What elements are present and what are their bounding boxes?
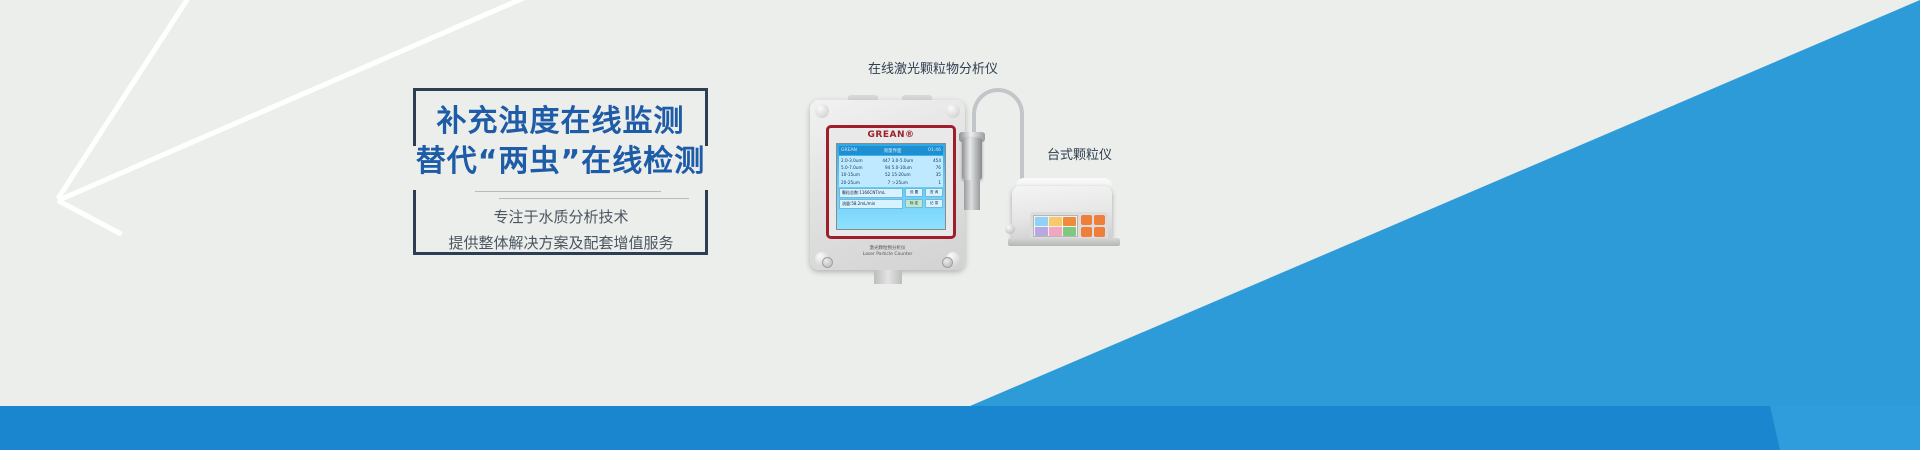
analyzer-corner-screw	[946, 104, 960, 118]
lcd-button-calibrate[interactable]: 标 定	[905, 199, 923, 208]
bin-value: 1	[923, 179, 941, 186]
analyzer-enclosure: GREAN® GREAN 测量界面 01:46 2.0-3.0um 447 3.…	[810, 100, 965, 270]
subtitle-block: 专注于水质分析技术 提供整体解决方案及配套增值服务	[405, 204, 717, 256]
lcd-status-row-total: 颗粒总数:1166CNT/mL 设 置 查 询	[839, 188, 943, 198]
table-row: 20-25um 7 ＞25um 1	[841, 179, 941, 186]
bench-tile	[1063, 217, 1076, 226]
bench-tile	[1035, 227, 1048, 236]
divider-line-2	[499, 198, 689, 199]
bin-label: 5.0-10um	[892, 164, 922, 171]
flow-rate-field: 流量:58.2mL/min	[839, 199, 903, 209]
headline-line-2: 替代“两虫”在线检测	[403, 142, 718, 182]
divider-line-1	[475, 191, 661, 192]
label-online-analyzer: 在线激光颗粒物分析仪	[868, 58, 998, 77]
bin-label: 10-15um	[841, 171, 871, 178]
bench-control-panel	[1030, 212, 1108, 240]
total-count-field: 颗粒总数:1166CNT/mL	[839, 188, 903, 198]
bin-value: 76	[923, 164, 941, 171]
benchtop-particle-counter	[1012, 178, 1124, 246]
bin-label: 15-20um	[892, 171, 922, 178]
lcd-status-area: 颗粒总数:1166CNT/mL 设 置 查 询 流量:58.2mL/min 标 …	[839, 188, 943, 209]
bench-key[interactable]	[1081, 227, 1092, 237]
bin-value: 35	[923, 171, 941, 178]
bench-display[interactable]	[1033, 215, 1078, 237]
lcd-title-left: GREAN	[841, 148, 857, 153]
bin-label: 20-25um	[841, 179, 871, 186]
flow-sensor-foot	[964, 180, 980, 210]
table-row: 10-15um 52 15-20um 35	[841, 171, 941, 178]
bench-key[interactable]	[1081, 215, 1092, 225]
analyzer-lcd-screen[interactable]: GREAN 测量界面 01:46 2.0-3.0um 447 3.0-5.0um…	[836, 143, 946, 230]
bench-key[interactable]	[1094, 227, 1105, 237]
bin-value: 52	[872, 171, 890, 178]
brand-logo: GREAN®	[829, 130, 953, 140]
bottom-blue-band	[0, 406, 1920, 450]
analyzer-bottom-screw	[942, 257, 953, 268]
analyzer-caption-en: Laser Particle Counter	[810, 252, 965, 258]
subtitle-line-1: 专注于水质分析技术	[405, 204, 717, 230]
bin-label: ＞25um	[892, 179, 922, 186]
bin-value: 447	[872, 157, 890, 164]
bench-inlet-port	[1005, 224, 1015, 234]
bin-label: 5.0-7.0um	[841, 164, 871, 171]
lcd-title-bar: GREAN 测量界面 01:46	[839, 146, 943, 155]
bin-label: 3.0-5.0um	[892, 157, 922, 164]
table-row: 5.0-7.0um 94 5.0-10um 76	[841, 164, 941, 171]
lcd-status-row-flow: 流量:58.2mL/min 标 定 记 录	[839, 199, 943, 209]
bench-keypad[interactable]	[1081, 215, 1105, 237]
online-laser-particle-analyzer: GREAN® GREAN 测量界面 01:46 2.0-3.0um 447 3.…	[810, 100, 965, 270]
analyzer-bottom-screw	[822, 257, 833, 268]
analyzer-caption: 激光颗粒物分析仪 Laser Particle Counter	[810, 246, 965, 258]
flow-sensor-body	[962, 138, 982, 180]
lcd-button-settings[interactable]: 设 置	[905, 188, 923, 197]
bench-tile	[1049, 217, 1062, 226]
bench-tile	[1049, 227, 1062, 236]
bench-base-plate	[1008, 238, 1120, 246]
lcd-title-right: 01:46	[928, 148, 941, 153]
lcd-button-record[interactable]: 记 录	[925, 199, 943, 208]
bench-enclosure	[1012, 186, 1112, 238]
analyzer-bottom-connector	[874, 270, 902, 284]
table-row: 2.0-3.0um 447 3.0-5.0um 454	[841, 157, 941, 164]
analyzer-corner-screw	[815, 104, 829, 118]
lcd-data-table: 2.0-3.0um 447 3.0-5.0um 454 5.0-7.0um 94…	[839, 156, 943, 187]
label-bench-analyzer: 台式颗粒仪	[1047, 144, 1112, 163]
lcd-title-center: 测量界面	[883, 148, 901, 154]
headline-block: 补充浊度在线监测 替代“两虫”在线检测 专注于水质分析技术 提供整体解决方案及配…	[413, 88, 708, 255]
bench-tile	[1063, 227, 1076, 236]
bin-value: 94	[872, 164, 890, 171]
bin-value: 7	[872, 179, 890, 186]
bench-tile	[1035, 217, 1048, 226]
analyzer-display-bezel: GREAN® GREAN 测量界面 01:46 2.0-3.0um 447 3.…	[826, 125, 956, 239]
bin-label: 2.0-3.0um	[841, 157, 871, 164]
bin-value: 454	[923, 157, 941, 164]
bench-key[interactable]	[1094, 215, 1105, 225]
lcd-button-query[interactable]: 查 询	[925, 188, 943, 197]
subtitle-line-2: 提供整体解决方案及配套增值服务	[405, 230, 717, 256]
page-title: 补充浊度在线监测 替代“两虫”在线检测	[403, 102, 718, 182]
headline-line-1: 补充浊度在线监测	[403, 102, 718, 142]
hero-banner: 补充浊度在线监测 替代“两虫”在线检测 专注于水质分析技术 提供整体解决方案及配…	[0, 0, 1920, 450]
